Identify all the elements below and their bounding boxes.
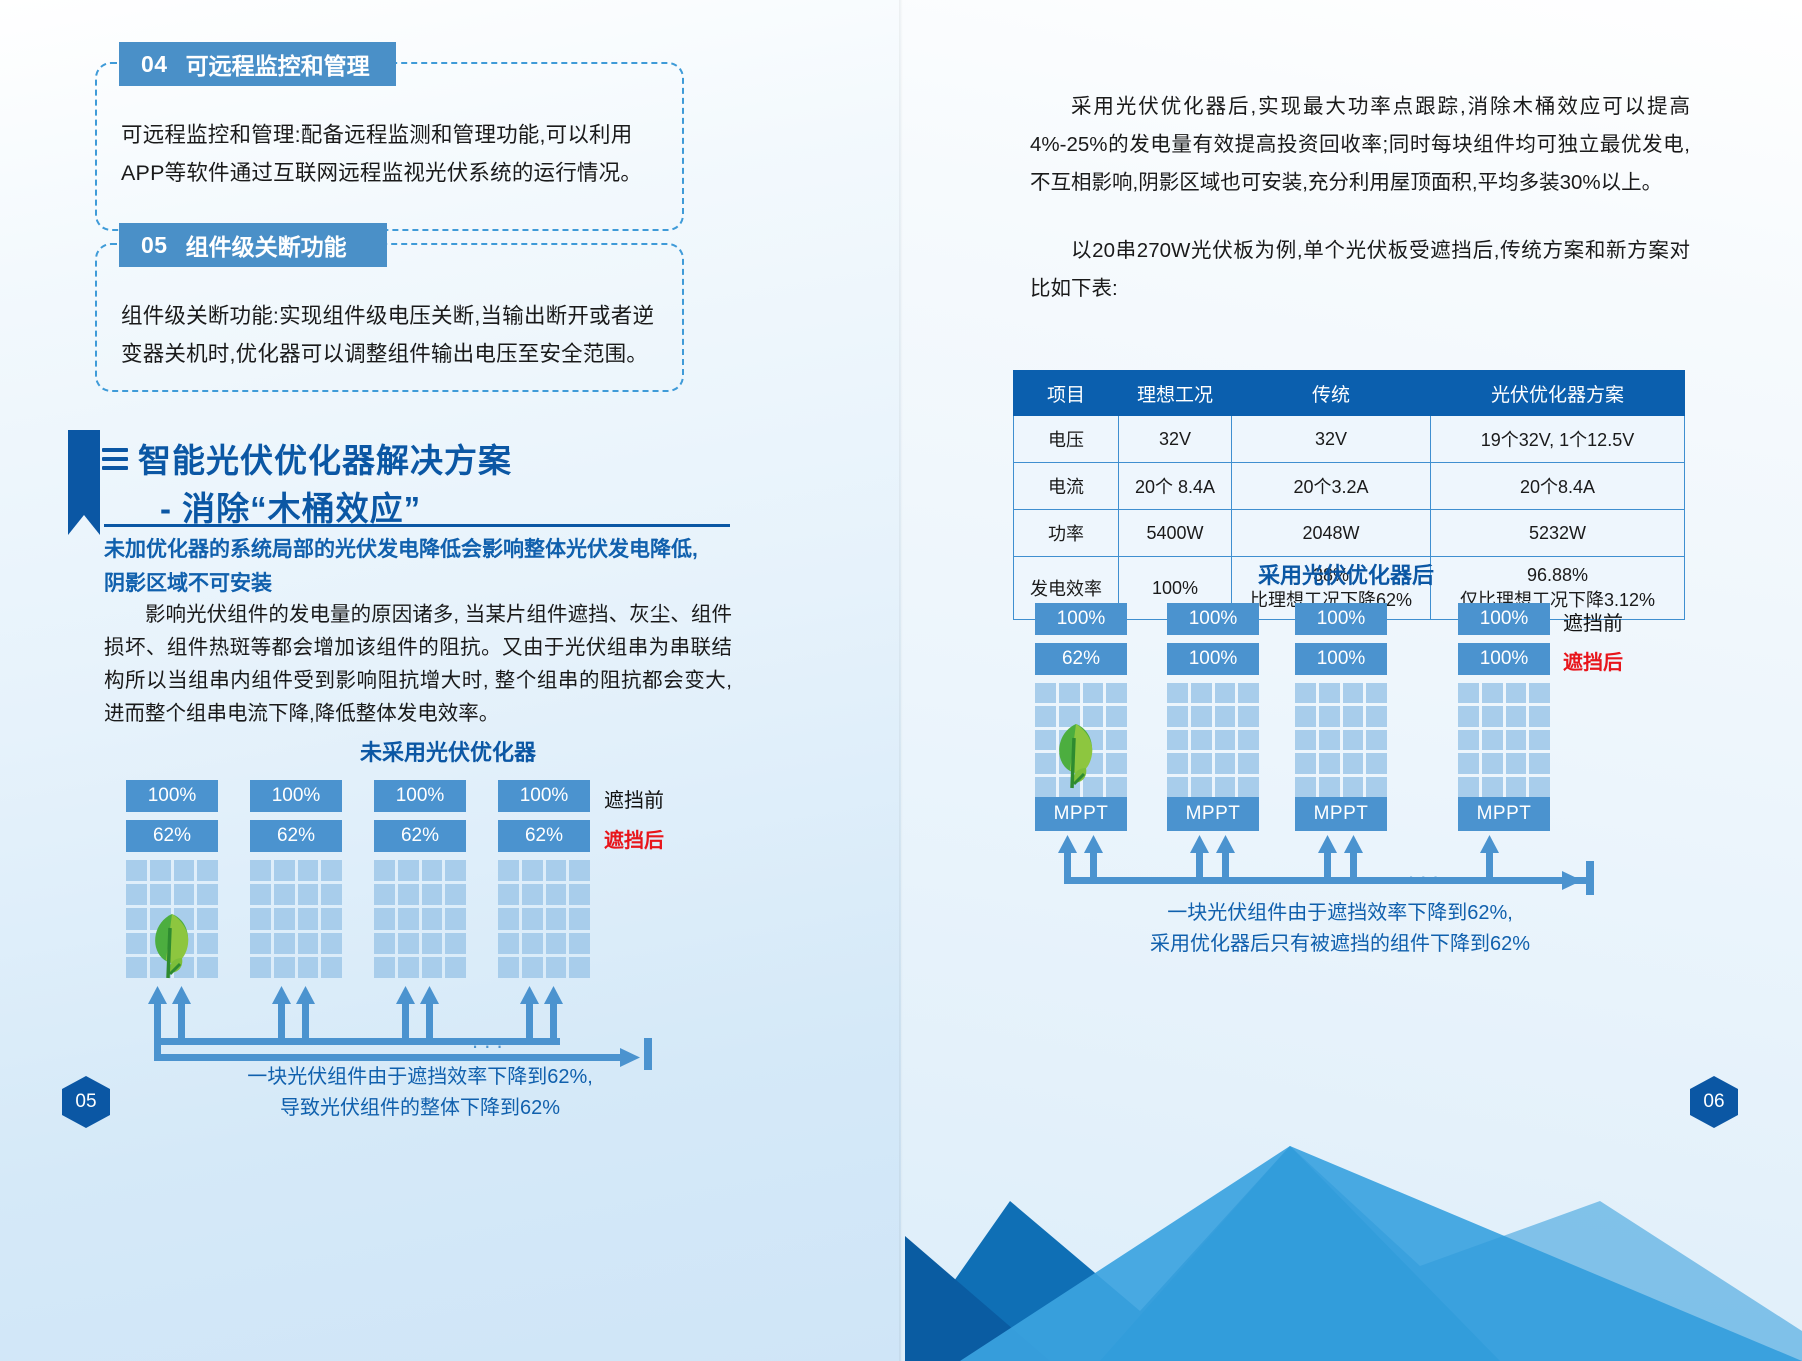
- diagram-left-wiring: . . .: [120, 980, 720, 1070]
- diagram-right-wiring: . . .: [1030, 833, 1630, 899]
- diagram-left-caption-line1: 一块光伏组件由于遮挡效率下降到62%,: [150, 1062, 690, 1093]
- diagram-left-before-3: 100%: [374, 780, 466, 812]
- diagram-left-caption: 一块光伏组件由于遮挡效率下降到62%, 导致光伏组件的整体下降到62%: [150, 1062, 690, 1124]
- section-divider: [104, 524, 730, 527]
- section-flag-marker: [68, 430, 100, 515]
- diagram-right-after-label: 遮挡后: [1563, 646, 1623, 675]
- table-header-2: 传统: [1232, 371, 1431, 416]
- page-right: [901, 0, 1802, 1361]
- solar-panel-left-3: [374, 860, 466, 978]
- table-header-1: 理想工况: [1119, 371, 1232, 416]
- cell-power-ideal: 5400W: [1119, 510, 1232, 557]
- right-paragraph-2: 以20串270W光伏板为例,单个光伏板受遮挡后,传统方案和新方案对比如下表:: [1030, 232, 1690, 308]
- section-title: 智能光伏优化器解决方案: [138, 437, 512, 484]
- diagram-right-after-3: 100%: [1295, 643, 1387, 675]
- solar-panel-right-3: [1295, 683, 1387, 797]
- diagram-right-caption-line2: 采用优化器后只有被遮挡的组件下降到62%: [1060, 929, 1620, 960]
- diagram-left-caption-line2: 导致光伏组件的整体下降到62%: [150, 1093, 690, 1124]
- cell-voltage-ideal: 32V: [1119, 416, 1232, 463]
- mppt-box-4: MPPT: [1458, 797, 1550, 831]
- cell-current-key: 电流: [1014, 463, 1119, 510]
- mppt-box-3: MPPT: [1295, 797, 1387, 831]
- table-header-row: 项目 理想工况 传统 光伏优化器方案: [1014, 371, 1685, 416]
- diagram-right-caption-line1: 一块光伏组件由于遮挡效率下降到62%,: [1060, 898, 1620, 929]
- diagram-right-ellipsis: . . .: [1408, 859, 1439, 884]
- cell-efficiency-optimizer-main: 96.88%: [1437, 563, 1678, 588]
- cell-current-optimizer: 20个8.4A: [1431, 463, 1685, 510]
- hamburger-icon: [102, 448, 128, 470]
- feature-card-04-number: 04: [141, 51, 168, 78]
- diagram-left-after-label: 遮挡后: [604, 824, 664, 853]
- section-paragraph: 影响光伏组件的发电量的原因诸多, 当某片组件遮挡、灰尘、组件损坏、组件热斑等都会…: [104, 598, 732, 730]
- cell-voltage-key: 电压: [1014, 416, 1119, 463]
- diagram-right-before-4: 100%: [1458, 603, 1550, 635]
- diagram-right-after-1: 62%: [1035, 643, 1127, 675]
- diagram-left-after-4: 62%: [498, 820, 590, 852]
- cell-voltage-traditional: 32V: [1232, 416, 1431, 463]
- solar-panel-right-4: [1458, 683, 1550, 797]
- feature-card-05-number: 05: [141, 232, 168, 259]
- mppt-box-2: MPPT: [1167, 797, 1259, 831]
- section-subtitle: - 消除“木桶效应”: [160, 482, 421, 530]
- feature-card-04: 04 可远程监控和管理 可远程监控和管理:配备远程监测和管理功能,可以利用APP…: [95, 62, 684, 231]
- cell-current-traditional: 20个3.2A: [1232, 463, 1431, 510]
- diagram-left-title: 未采用光伏优化器: [360, 735, 536, 767]
- diagram-left-before-1: 100%: [126, 780, 218, 812]
- section-lead-text: 未加优化器的系统局部的光伏发电降低会影响整体光伏发电降低,阴影区域不可安装: [104, 533, 714, 601]
- feature-card-05-title: 组件级关断功能: [186, 228, 347, 262]
- cell-power-traditional: 2048W: [1232, 510, 1431, 557]
- cell-power-key: 功率: [1014, 510, 1119, 557]
- feature-card-04-title: 可远程监控和管理: [186, 47, 370, 81]
- diagram-right-title: 采用光伏优化器后: [1258, 558, 1434, 590]
- cell-power-optimizer: 5232W: [1431, 510, 1685, 557]
- diagram-right-after-4: 100%: [1458, 643, 1550, 675]
- cell-voltage-optimizer: 19个32V, 1个12.5V: [1431, 416, 1685, 463]
- table-row-power: 功率 5400W 2048W 5232W: [1014, 510, 1685, 557]
- cell-current-ideal: 20个 8.4A: [1119, 463, 1232, 510]
- diagram-left-before-label: 遮挡前: [604, 784, 664, 813]
- table-row-voltage: 电压 32V 32V 19个32V, 1个12.5V: [1014, 416, 1685, 463]
- diagram-right-before-label: 遮挡前: [1563, 607, 1623, 636]
- solar-panel-right-2: [1167, 683, 1259, 797]
- page-seam: [899, 0, 903, 1361]
- table-row-current: 电流 20个 8.4A 20个3.2A 20个8.4A: [1014, 463, 1685, 510]
- diagram-left-before-2: 100%: [250, 780, 342, 812]
- table-header-0: 项目: [1014, 371, 1119, 416]
- solar-panel-left-4: [498, 860, 590, 978]
- mppt-box-1: MPPT: [1035, 797, 1127, 831]
- diagram-right-after-2: 100%: [1167, 643, 1259, 675]
- right-paragraph-1: 采用光伏优化器后,实现最大功率点跟踪,消除木桶效应可以提高4%-25%的发电量有…: [1030, 88, 1690, 202]
- leaf-icon-left: [142, 908, 204, 980]
- solar-panel-left-2: [250, 860, 342, 978]
- feature-card-05-header: 05 组件级关断功能: [119, 223, 387, 267]
- diagram-left-after-2: 62%: [250, 820, 342, 852]
- feature-card-05-body: 组件级关断功能:实现组件级电压关断,当输出断开或者逆变器关机时,优化器可以调整组…: [121, 297, 660, 373]
- diagram-left-after-1: 62%: [126, 820, 218, 852]
- diagram-right-caption: 一块光伏组件由于遮挡效率下降到62%, 采用优化器后只有被遮挡的组件下降到62%: [1060, 898, 1620, 960]
- leaf-icon-right: [1046, 718, 1108, 790]
- diagram-right-before-1: 100%: [1035, 603, 1127, 635]
- diagram-right-before-3: 100%: [1295, 603, 1387, 635]
- diagram-right-before-2: 100%: [1167, 603, 1259, 635]
- diagram-left-ellipsis: . . .: [472, 1028, 503, 1053]
- table-header-3: 光伏优化器方案: [1431, 371, 1685, 416]
- feature-card-04-body: 可远程监控和管理:配备远程监测和管理功能,可以利用APP等软件通过互联网远程监视…: [121, 116, 660, 192]
- diagram-left-before-4: 100%: [498, 780, 590, 812]
- diagram-left-after-3: 62%: [374, 820, 466, 852]
- feature-card-04-header: 04 可远程监控和管理: [119, 42, 396, 86]
- feature-card-05: 05 组件级关断功能 组件级关断功能:实现组件级电压关断,当输出断开或者逆变器关…: [95, 243, 684, 392]
